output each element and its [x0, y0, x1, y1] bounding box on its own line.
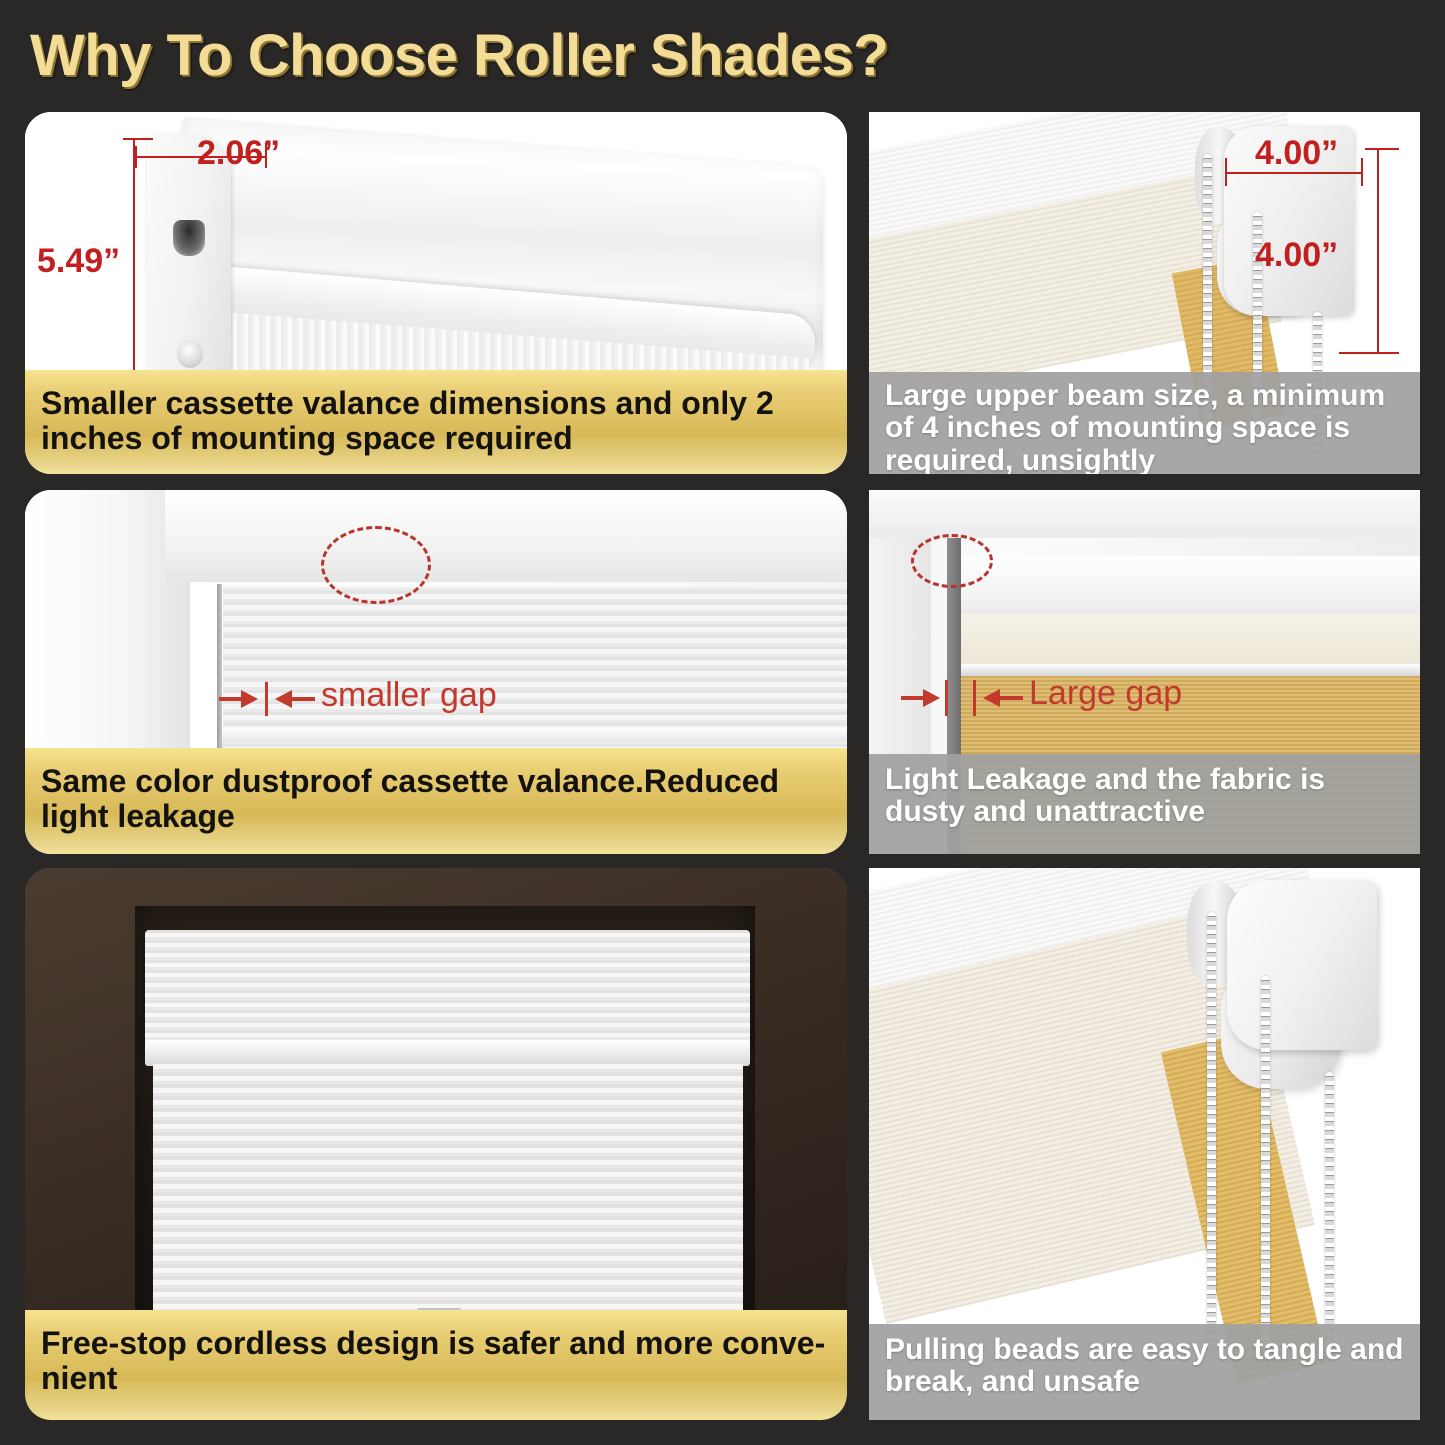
panel-1-caption: Smaller cassette valance dimensions and …	[25, 370, 847, 474]
width-dimension-label: 2.06”	[197, 134, 280, 173]
gap-marker-bar-a	[945, 680, 948, 716]
highlight-circle-icon	[321, 526, 431, 604]
panel-3-caption: Same color dustproof cassette valance.Re…	[25, 748, 847, 854]
height-dimension-tick-top	[123, 138, 153, 140]
large-gap-label: Large gap	[1029, 674, 1182, 713]
endcap-slot-shape	[173, 220, 205, 256]
width-dimension-tick-left	[135, 146, 137, 168]
cassette-lip-shape	[145, 1040, 750, 1066]
gap-arrow-right-head	[983, 689, 1000, 707]
panel-dustproof-valance: smaller gap Same color dustproof cassett…	[25, 490, 847, 854]
panel-4-caption: Light Leakage and the fabric is dusty an…	[869, 754, 1420, 854]
beam-fascia-shape	[961, 614, 1420, 670]
highlight-circle-icon	[911, 534, 993, 588]
window-frame-top-shape	[165, 490, 847, 582]
panel-smaller-cassette: 5.49” 2.06” Smaller cassette valance dim…	[25, 112, 847, 474]
panel-5-caption: Free-stop cordless design is safer and m…	[25, 1310, 847, 1420]
beam-width-tick-right	[1361, 158, 1363, 186]
beam-height-tick-bottom	[1339, 352, 1399, 354]
cassette-valance-shape	[145, 930, 750, 1050]
gap-arrow-left-head	[241, 690, 258, 708]
height-dimension-line	[133, 138, 135, 404]
bead-chain-left	[1207, 912, 1216, 1352]
beam-height-dimension-line	[1377, 148, 1379, 354]
bead-chain-middle	[1261, 976, 1270, 1352]
bead-chain-right	[1325, 1072, 1334, 1352]
panel-large-upper-beam: 4.00” 4.00” Large upper beam size, a min…	[869, 112, 1420, 474]
height-dimension-label: 5.49”	[37, 242, 120, 281]
gap-marker-bar	[265, 682, 268, 716]
page-title: Why To Choose Roller Shades?	[30, 22, 888, 89]
gap-marker-bar-b	[973, 680, 976, 716]
panel-2-caption: Large upper beam size, a minimum of 4 in…	[869, 372, 1420, 474]
panel-pulling-beads: Pulling beads are easy to tangle and bre…	[869, 868, 1420, 1420]
smaller-gap-label: smaller gap	[321, 676, 497, 715]
beam-width-label: 4.00”	[1255, 134, 1338, 173]
bracket-upper-shape	[1227, 880, 1377, 1050]
panel-6-caption: Pulling beads are easy to tangle and bre…	[869, 1324, 1420, 1420]
panel-light-leakage: Large gap Light Leakage and the fabric i…	[869, 490, 1420, 854]
gap-arrow-right-stem	[291, 697, 315, 701]
panel-cordless-design: Free-stop cordless design is safer and m…	[25, 868, 847, 1420]
gap-arrow-right-head	[275, 690, 292, 708]
gap-arrow-right-stem	[999, 696, 1023, 700]
ceiling-shape	[869, 490, 1420, 538]
beam-width-tick-left	[1225, 158, 1227, 186]
shade-upper-fabric-shape	[223, 586, 847, 734]
infographic-page: Why To Choose Roller Shades? 5.49” 2.06”…	[0, 0, 1445, 1445]
beam-height-label: 4.00”	[1255, 236, 1338, 275]
beam-height-tick-top	[1365, 148, 1399, 150]
gap-arrow-left-head	[923, 689, 940, 707]
shade-fabric-panel-shape	[153, 1064, 743, 1336]
endcap-screw-shape	[177, 340, 203, 368]
